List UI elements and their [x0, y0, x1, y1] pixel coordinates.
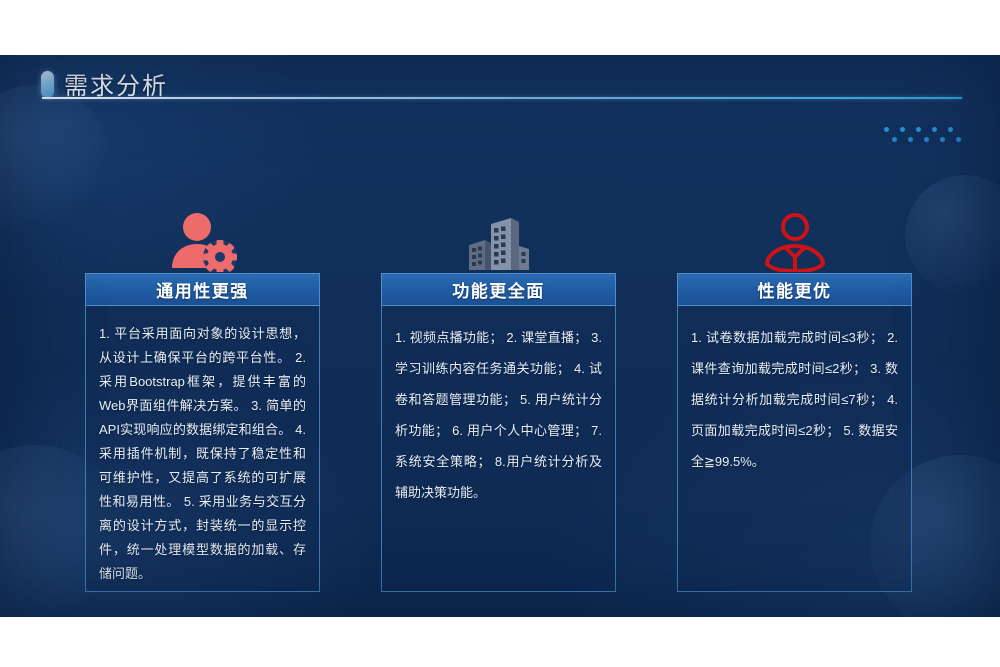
card-functionality: 功能更全面 1. 视频点播功能； 2. 课堂直播； 3. 学习训练内容任务通关功…: [381, 273, 616, 592]
decorative-dots-top-right: [884, 127, 961, 142]
page-title: 需求分析: [64, 66, 168, 101]
business-person-icon-svg: [759, 212, 831, 272]
buildings-icon-svg: [463, 212, 535, 272]
dot: [940, 137, 945, 142]
dot-row: [884, 127, 961, 132]
card-title: 功能更全面: [452, 277, 545, 302]
card-body-text: 1. 视频点播功能； 2. 课堂直播； 3. 学习训练内容任务通关功能； 4. …: [395, 322, 602, 508]
card-header: 通用性更强: [85, 273, 320, 306]
dot: [916, 127, 921, 132]
card-body-text: 1. 平台采用面向对象的设计思想，从设计上确保平台的跨平台性。 2. 采用Boo…: [99, 322, 306, 586]
card-body: 1. 平台采用面向对象的设计思想，从设计上确保平台的跨平台性。 2. 采用Boo…: [85, 306, 320, 592]
dot: [884, 127, 889, 132]
dot: [892, 137, 897, 142]
dot: [956, 137, 961, 142]
slide-canvas: 需求分析: [0, 55, 1000, 617]
card-header: 性能更优: [677, 273, 912, 306]
dot: [900, 127, 905, 132]
title-bar-icon: [41, 71, 54, 98]
dot: [924, 137, 929, 142]
card-performance: 性能更优 1. 试卷数据加载完成时间≤3秒； 2. 课件查询加载完成时间≤2秒；…: [677, 273, 912, 592]
card-header: 功能更全面: [381, 273, 616, 306]
dot: [948, 127, 953, 132]
business-person-icon: [750, 210, 840, 272]
card-body: 1. 试卷数据加载完成时间≤3秒； 2. 课件查询加载完成时间≤2秒； 3. 数…: [677, 306, 912, 592]
card-universality: 通用性更强 1. 平台采用面向对象的设计思想，从设计上确保平台的跨平台性。 2.…: [85, 273, 320, 592]
buildings-icon: [454, 210, 544, 272]
slide-header: 需求分析: [0, 55, 1000, 117]
card-title: 性能更优: [758, 277, 832, 302]
card-title: 通用性更强: [156, 277, 249, 302]
dot-row: [892, 137, 961, 142]
bokeh-decor: [905, 175, 1000, 295]
title-divider: [42, 97, 962, 99]
dot: [932, 127, 937, 132]
user-gear-icon: [158, 210, 248, 272]
dot: [908, 137, 913, 142]
card-body-text: 1. 试卷数据加载完成时间≤3秒； 2. 课件查询加载完成时间≤2秒； 3. 数…: [691, 322, 898, 477]
user-gear-icon-svg: [167, 212, 239, 272]
card-body: 1. 视频点播功能； 2. 课堂直播； 3. 学习训练内容任务通关功能； 4. …: [381, 306, 616, 592]
